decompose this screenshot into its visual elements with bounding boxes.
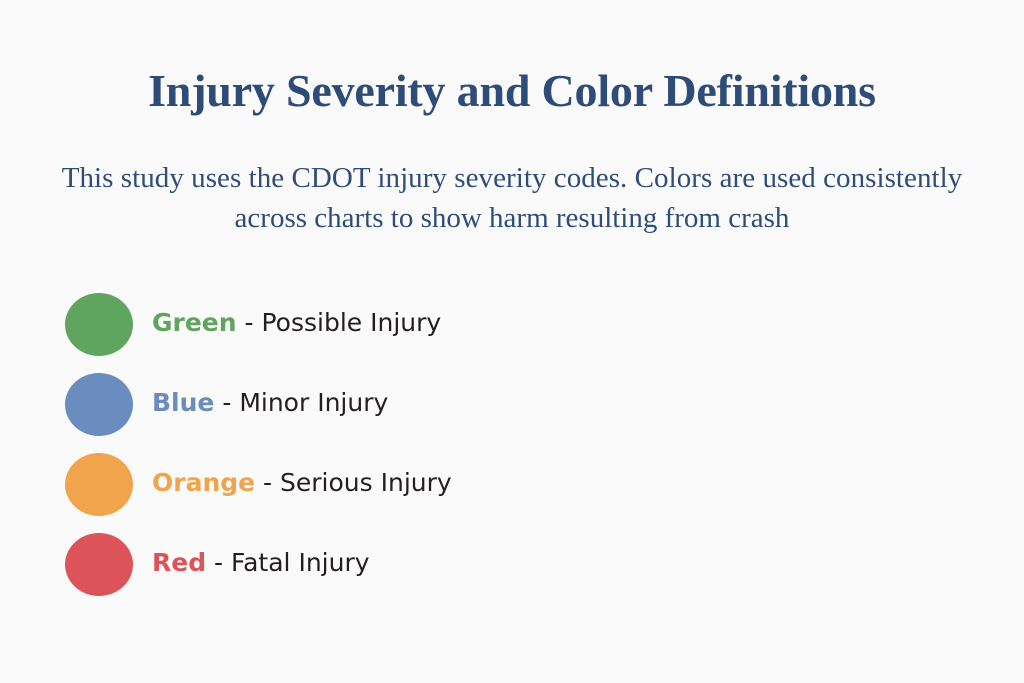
legend-description-green: Possible Injury — [261, 308, 441, 337]
color-definition-legend: Green - Possible Injury Blue - Minor Inj… — [0, 292, 1024, 612]
orange-circle-swatch — [65, 453, 133, 516]
legend-separator-green: - — [237, 308, 262, 337]
legend-keyword-red: Red — [152, 548, 206, 577]
legend-item-red: Red - Fatal Injury — [0, 532, 1024, 612]
slide-canvas: Injury Severity and Color Definitions Th… — [0, 0, 1024, 683]
subtitle-line-1: This study uses the CDOT injury severity… — [0, 158, 1024, 198]
legend-description-red: Fatal Injury — [231, 548, 370, 577]
legend-label-blue: Blue - Minor Injury — [152, 383, 388, 423]
legend-item-orange: Orange - Serious Injury — [0, 452, 1024, 532]
legend-item-blue: Blue - Minor Injury — [0, 372, 1024, 452]
legend-separator-orange: - — [255, 468, 280, 497]
green-circle-swatch — [65, 293, 133, 356]
legend-separator-red: - — [206, 548, 231, 577]
legend-label-red: Red - Fatal Injury — [152, 543, 370, 583]
page-subtitle: This study uses the CDOT injury severity… — [0, 158, 1024, 238]
legend-label-orange: Orange - Serious Injury — [152, 463, 452, 503]
legend-item-green: Green - Possible Injury — [0, 292, 1024, 372]
legend-keyword-green: Green — [152, 308, 237, 337]
legend-description-blue: Minor Injury — [239, 388, 388, 417]
subtitle-line-2: across charts to show harm resulting fro… — [0, 198, 1024, 238]
page-title: Injury Severity and Color Definitions — [0, 62, 1024, 120]
legend-label-green: Green - Possible Injury — [152, 303, 441, 343]
legend-keyword-blue: Blue — [152, 388, 214, 417]
red-circle-swatch — [65, 533, 133, 596]
legend-description-orange: Serious Injury — [280, 468, 452, 497]
legend-separator-blue: - — [214, 388, 239, 417]
legend-keyword-orange: Orange — [152, 468, 255, 497]
blue-circle-swatch — [65, 373, 133, 436]
